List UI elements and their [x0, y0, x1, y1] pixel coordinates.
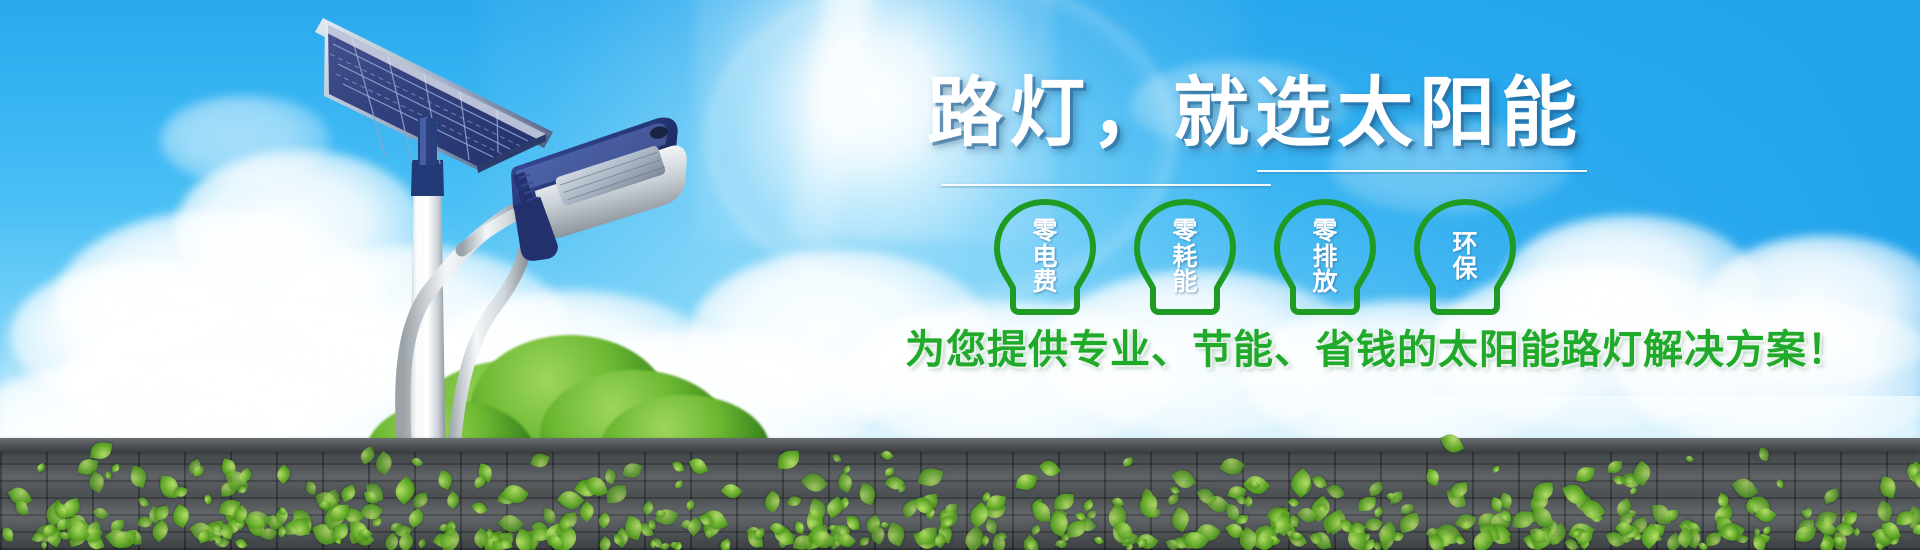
- badge-number: 零: [1032, 218, 1057, 244]
- feature-badge-list: 零 电 费 零 耗 能 零: [905, 196, 1605, 318]
- badge-text: 零 排 放: [1312, 218, 1337, 295]
- feature-badge: 零 耗 能: [1129, 196, 1241, 318]
- panel-mount: [418, 118, 437, 165]
- badge-text: 零 耗 能: [1172, 218, 1197, 295]
- badge-text: 环 保: [1452, 232, 1477, 283]
- badge-text: 零 电 费: [1032, 218, 1057, 295]
- badge-number: 零: [1312, 218, 1337, 244]
- solar-street-lamp-banner: 路灯，就选太阳能 零 电 费 零: [0, 0, 1920, 550]
- banner-copy: 路灯，就选太阳能 零 电 费 零: [905, 76, 1605, 370]
- wall-coping: [0, 438, 1920, 452]
- title-divider: [905, 166, 1605, 192]
- divider-line-left: [941, 184, 1271, 186]
- badge-number: 零: [1172, 218, 1197, 244]
- badge-line-2: 放: [1312, 270, 1337, 296]
- badge-line-1: 电: [1032, 245, 1057, 271]
- badge-line-1: 排: [1312, 245, 1337, 271]
- badge-line-1: 耗: [1172, 245, 1197, 271]
- divider-line-right: [1257, 170, 1587, 172]
- badge-line-2: 能: [1172, 270, 1197, 296]
- badge-line-1: 环: [1452, 232, 1477, 258]
- badge-line-2: 保: [1452, 257, 1477, 283]
- feature-badge: 零 电 费: [989, 196, 1101, 318]
- badge-line-2: 费: [1032, 270, 1057, 296]
- feature-badge: 环 保: [1409, 196, 1521, 318]
- tagline: 为您提供专业、节能、省钱的太阳能路灯解决方案！: [905, 330, 1605, 370]
- brick-wall: [0, 445, 1920, 550]
- page-title: 路灯，就选太阳能: [905, 76, 1605, 152]
- feature-badge: 零 排 放: [1269, 196, 1381, 318]
